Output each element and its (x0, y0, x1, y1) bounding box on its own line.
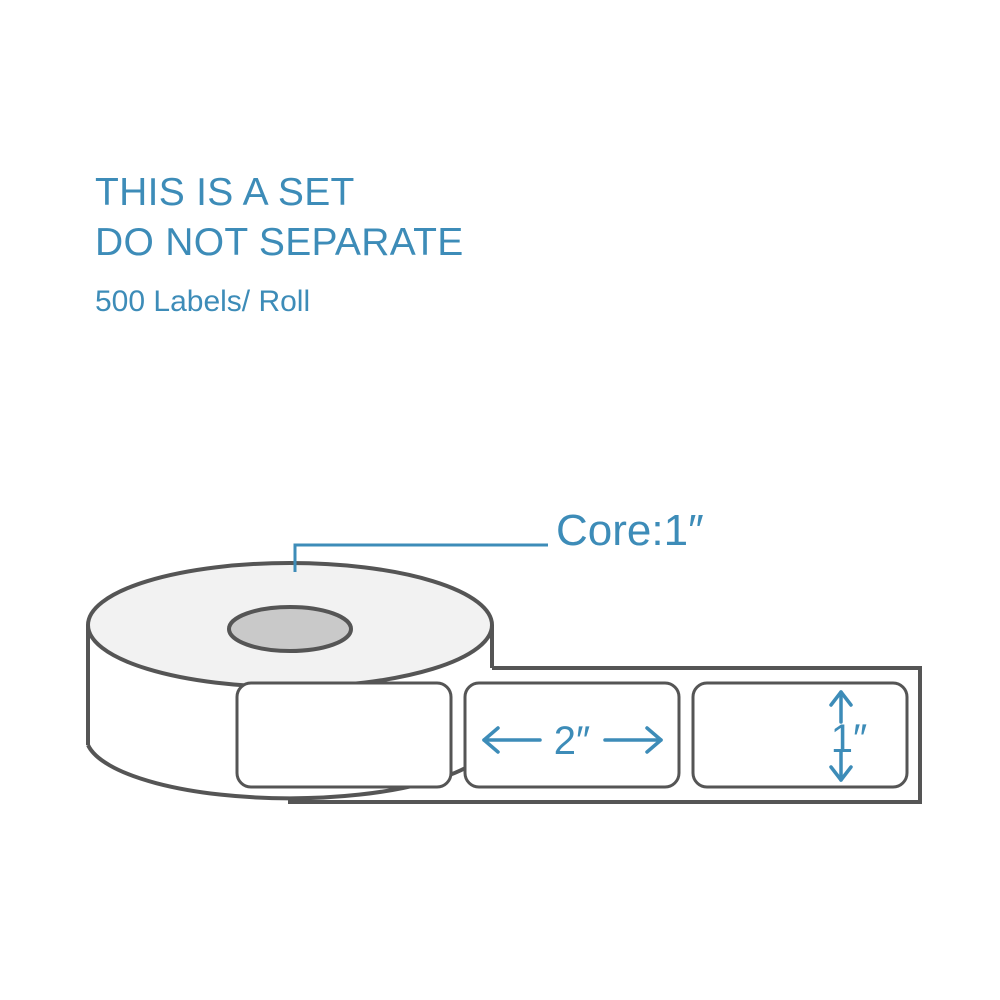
roll-core-hole (229, 607, 351, 651)
label-1 (237, 683, 451, 787)
core-annotation-text: Core:1″ (556, 505, 704, 557)
label-3 (693, 683, 907, 787)
roll-illustration: 2″ 1″ (0, 0, 1000, 1000)
product-diagram: THIS IS A SET DO NOT SEPARATE 500 Labels… (0, 0, 1000, 1000)
label-height-text: 1″ (831, 717, 867, 761)
label-width-text: 2″ (554, 719, 590, 763)
